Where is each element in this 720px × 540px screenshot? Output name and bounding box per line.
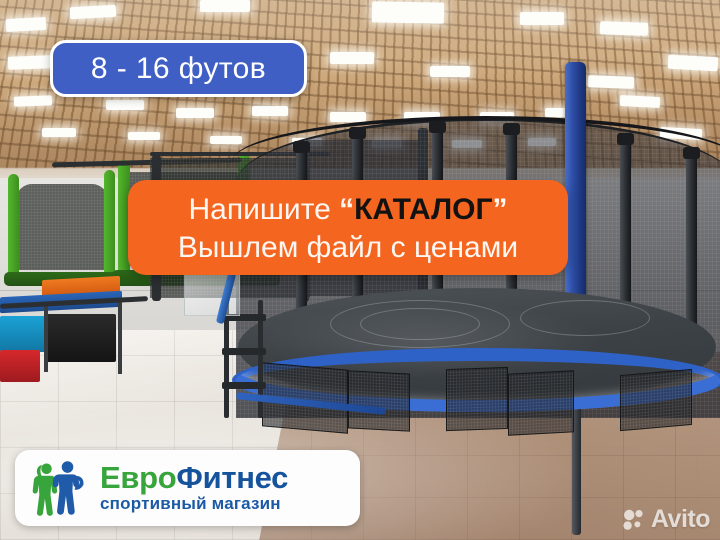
led-panel-light (6, 17, 47, 32)
brand-name-part-2: Фитнес (176, 460, 288, 495)
led-panel-light (14, 95, 52, 106)
led-panel-light (668, 55, 719, 72)
rack-leg (44, 306, 48, 372)
brand-logo-text: ЕвроФитнес спортивный магазин (100, 462, 288, 514)
led-panel-light (128, 132, 160, 140)
led-panel-light (106, 100, 144, 110)
led-panel-light (430, 66, 470, 77)
catalog-cta-badge[interactable]: Напишите “КАТАЛОГ” Вышлем файл с ценами (128, 180, 568, 275)
brand-tagline: спортивный магазин (100, 494, 288, 514)
advertisement-banner: 8 - 16 футов Напишите “КАТАЛОГ” Вышлем ф… (0, 0, 720, 540)
mat-print-ring (360, 308, 480, 340)
brand-logo-box[interactable]: ЕвроФитнес спортивный магазин (15, 450, 360, 526)
cta-line-1: Напишите “КАТАЛОГ” (128, 191, 568, 229)
cta-keyword: КАТАЛОГ (354, 193, 492, 226)
avito-watermark: Avito (623, 507, 710, 532)
led-panel-light (588, 75, 634, 89)
led-panel-light (330, 112, 366, 122)
brand-name-part-1: Евро (100, 460, 176, 495)
brand-name: ЕвроФитнес (100, 462, 288, 494)
led-panel-light (210, 136, 242, 144)
led-panel-light (330, 52, 374, 64)
led-panel-light (42, 128, 76, 137)
avito-wordmark: Avito (651, 507, 710, 532)
cta-prefix: Напишите (189, 193, 340, 226)
product-box-cyan (0, 316, 46, 352)
led-panel-light (200, 0, 250, 12)
product-display-rack (0, 278, 150, 368)
product-box-red (0, 350, 40, 382)
led-panel-light (372, 1, 444, 23)
mat-print-ring (520, 300, 650, 336)
cta-quote-close: ” (492, 193, 507, 226)
cta-line-2: Вышлем файл с ценами (128, 229, 568, 267)
avito-dots-icon (623, 509, 647, 531)
product-box-black (46, 314, 116, 362)
size-range-badge: 8 - 16 футов (50, 40, 307, 97)
cta-quote-open: “ (339, 193, 354, 226)
fitness-couple-icon (29, 459, 91, 517)
led-panel-light (70, 5, 117, 19)
trampoline-lower-net-skirt (446, 367, 508, 431)
rack-leg (118, 298, 122, 374)
led-panel-light (176, 108, 214, 118)
trampoline-lower-net-skirt (348, 370, 410, 431)
led-panel-light (252, 106, 288, 116)
led-panel-light (620, 95, 661, 108)
trampoline-lower-net-skirt (508, 370, 574, 435)
led-panel-light (520, 12, 564, 25)
trampoline-lower-net-skirt (620, 369, 692, 431)
size-range-text: 8 - 16 футов (91, 54, 266, 84)
led-panel-light (600, 21, 648, 36)
led-panel-light (8, 55, 52, 70)
